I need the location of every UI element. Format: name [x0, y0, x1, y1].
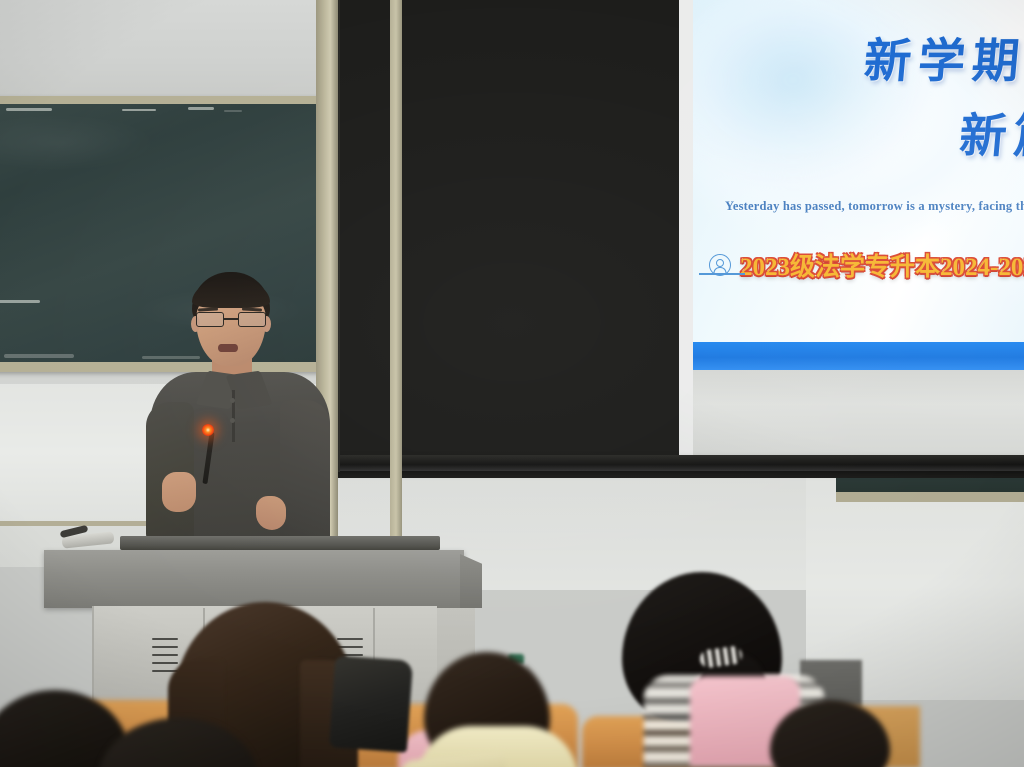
laser-pointer-led-icon [202, 424, 214, 436]
presenter-mouth [218, 344, 238, 352]
glasses-lens-right [238, 312, 266, 327]
lectern-vent [152, 646, 178, 648]
slide-meeting-underline [699, 273, 745, 275]
projection-screen-surface: 新学期 新开局 新篇章 Yesterday has passed, tomorr… [679, 0, 1024, 455]
projected-slide: 新学期 新开局 新篇章 Yesterday has passed, tomorr… [693, 0, 1024, 370]
lectern-vent [337, 638, 363, 640]
slide-title-line1: 新学期 新开局 [693, 22, 1024, 91]
glasses-lens-left [196, 312, 224, 327]
glasses-bridge [224, 318, 238, 320]
blackboard-right-frame [836, 492, 1024, 502]
slide-title-line2: 新篇章 [693, 97, 1024, 166]
presenter-hand-left [162, 472, 196, 512]
presenter [140, 272, 330, 557]
glasses-icon [194, 312, 270, 328]
lectern-vent [152, 638, 178, 640]
slide-bottom-band [693, 342, 1024, 370]
screen-unlit-area [693, 370, 1024, 455]
wall-upper [0, 0, 330, 103]
lectern-monitor-top [120, 536, 440, 550]
presenter-button [230, 418, 235, 423]
backpack [329, 655, 413, 752]
slide-title: 新学期 新开局 新篇章 [693, 22, 1024, 166]
screen-bottom-bar [334, 455, 1024, 471]
slide-meeting-label: 2023级法学专升本2024-2025学院第一学期班会 [740, 247, 1024, 283]
classroom-scene: 新学期 新开局 新篇章 Yesterday has passed, tomorr… [0, 0, 1024, 767]
slide-english-subtitle: Yesterday has passed, tomorrow is a myst… [725, 199, 1024, 214]
slide-meeting-row: 2023级法学专升本2024-2025学院第一学期班会 [709, 247, 1024, 283]
wall-pillar-inner [390, 0, 402, 555]
presenter-hand-right [256, 496, 286, 530]
lectern-vent [152, 662, 178, 664]
presenter-arm-right [280, 400, 330, 550]
projection-screen-frame: 新学期 新开局 新篇章 Yesterday has passed, tomorr… [334, 0, 1024, 478]
lectern-vent [152, 654, 178, 656]
lectern-desk-surface [44, 550, 464, 608]
presenter-button [230, 398, 235, 403]
